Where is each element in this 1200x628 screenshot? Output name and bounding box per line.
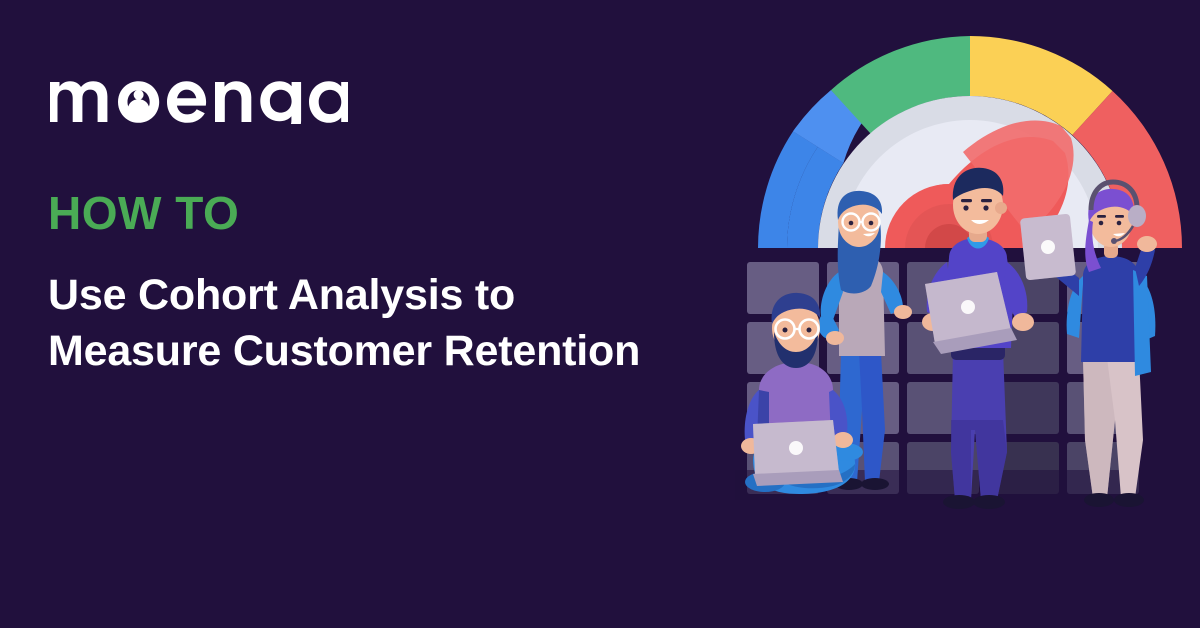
moengage-logo[interactable] xyxy=(48,68,348,124)
headline-line-2: Measure Customer Retention xyxy=(48,324,748,380)
poster-canvas: HOW TO Use Cohort Analysis to Measure Cu… xyxy=(0,0,1200,628)
laptop-icon xyxy=(753,420,843,486)
illustration-svg xyxy=(735,0,1200,628)
tablet-icon xyxy=(1020,214,1076,281)
kicker-how-to: HOW TO xyxy=(48,190,239,236)
moengage-wordmark-icon xyxy=(48,68,348,124)
page-title: Use Cohort Analysis to Measure Customer … xyxy=(48,268,748,380)
headline-line-1: Use Cohort Analysis to xyxy=(48,268,748,324)
gauge-and-team-illustration xyxy=(735,0,1200,628)
